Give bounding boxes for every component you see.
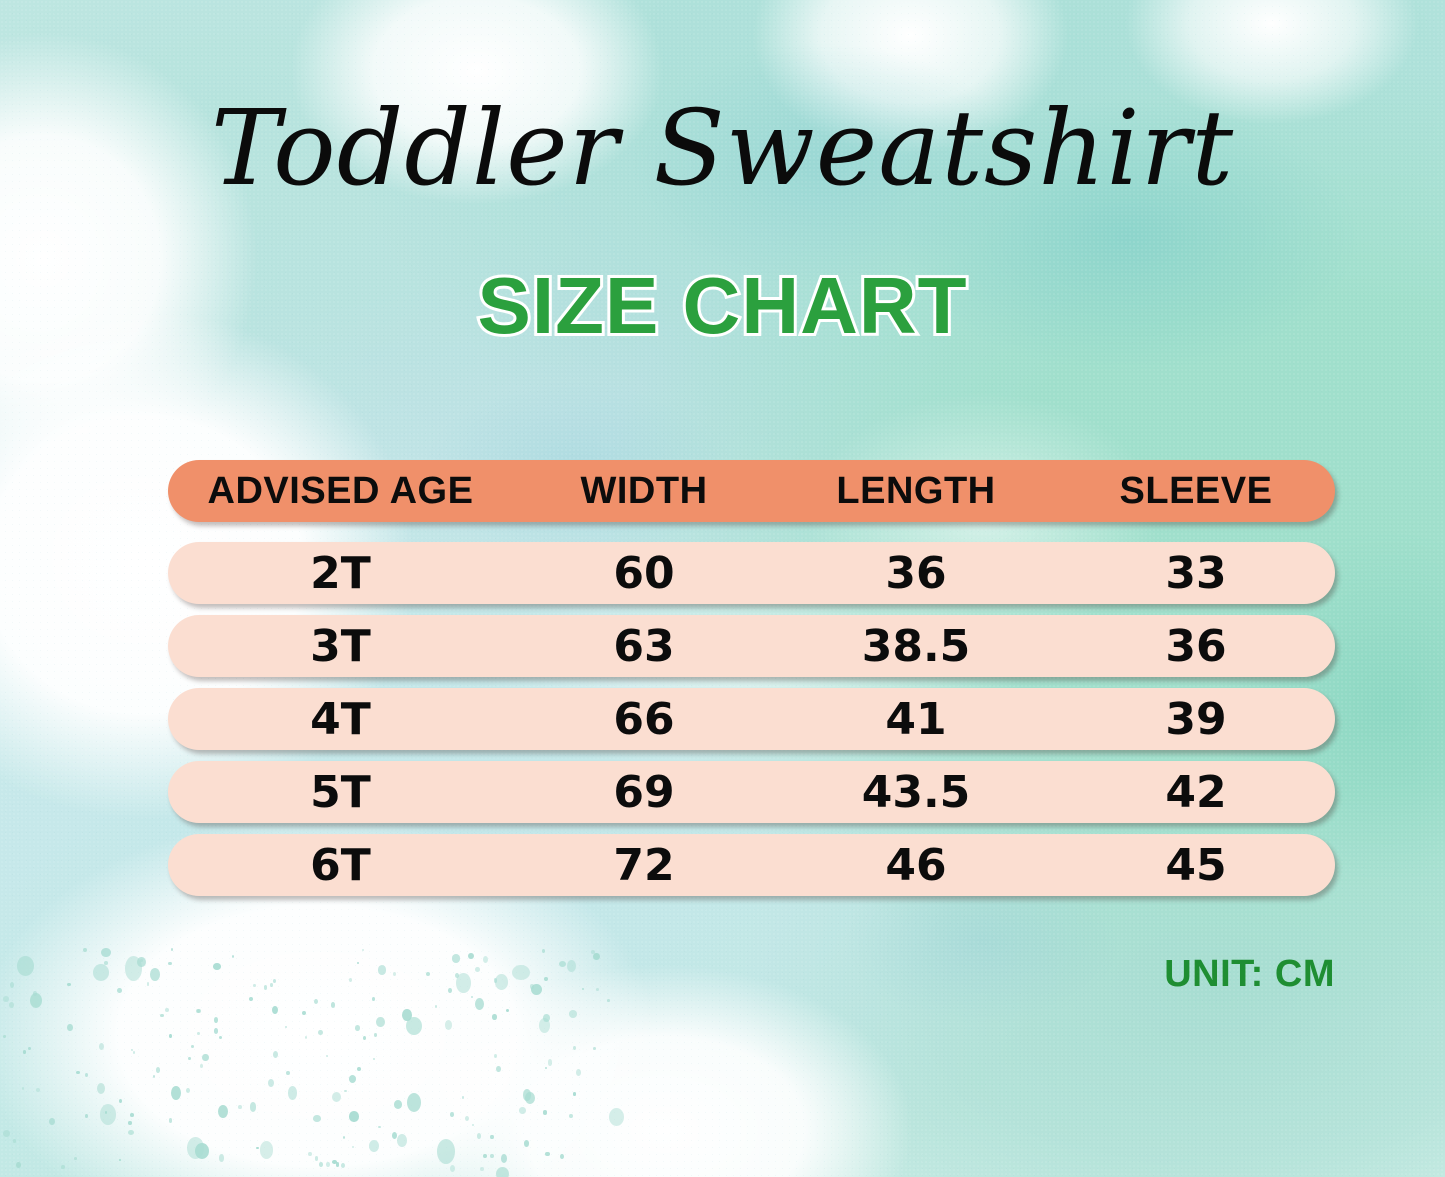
cell-advised-age: 6T: [168, 840, 513, 891]
table-row: 6T 72 46 45: [168, 834, 1335, 896]
cell-width: 66: [513, 694, 775, 745]
page-title: Toddler Sweatshirt: [0, 96, 1445, 200]
cell-advised-age: 4T: [168, 694, 513, 745]
cell-length: 38.5: [775, 621, 1057, 672]
cell-width: 63: [513, 621, 775, 672]
cell-sleeve: 39: [1057, 694, 1335, 745]
cell-advised-age: 2T: [168, 548, 513, 599]
cell-length: 46: [775, 840, 1057, 891]
unit-label: UNIT: CM: [1164, 953, 1335, 996]
table-row: 3T 63 38.5 36: [168, 615, 1335, 677]
column-header-advised-age: ADVISED AGE: [168, 470, 513, 513]
cell-length: 36: [775, 548, 1057, 599]
cell-sleeve: 45: [1057, 840, 1335, 891]
cell-sleeve: 33: [1057, 548, 1335, 599]
table-row: 2T 60 36 33: [168, 542, 1335, 604]
cell-width: 69: [513, 767, 775, 818]
cell-advised-age: 3T: [168, 621, 513, 672]
cell-width: 60: [513, 548, 775, 599]
page-subtitle: SIZE CHART: [0, 266, 1445, 346]
cell-length: 41: [775, 694, 1057, 745]
table-header-row: ADVISED AGE WIDTH LENGTH SLEEVE: [168, 460, 1335, 522]
paint-splatter-decoration: [0, 947, 640, 1177]
table-row: 5T 69 43.5 42: [168, 761, 1335, 823]
size-chart-canvas: Toddler Sweatshirt SIZE CHART ADVISED AG…: [0, 0, 1445, 1177]
cell-sleeve: 42: [1057, 767, 1335, 818]
size-chart-table: ADVISED AGE WIDTH LENGTH SLEEVE 2T 60 36…: [168, 460, 1335, 896]
column-header-width: WIDTH: [513, 470, 775, 513]
column-header-length: LENGTH: [775, 470, 1057, 513]
cell-length: 43.5: [775, 767, 1057, 818]
table-row: 4T 66 41 39: [168, 688, 1335, 750]
cell-advised-age: 5T: [168, 767, 513, 818]
cell-width: 72: [513, 840, 775, 891]
column-header-sleeve: SLEEVE: [1057, 470, 1335, 513]
cell-sleeve: 36: [1057, 621, 1335, 672]
